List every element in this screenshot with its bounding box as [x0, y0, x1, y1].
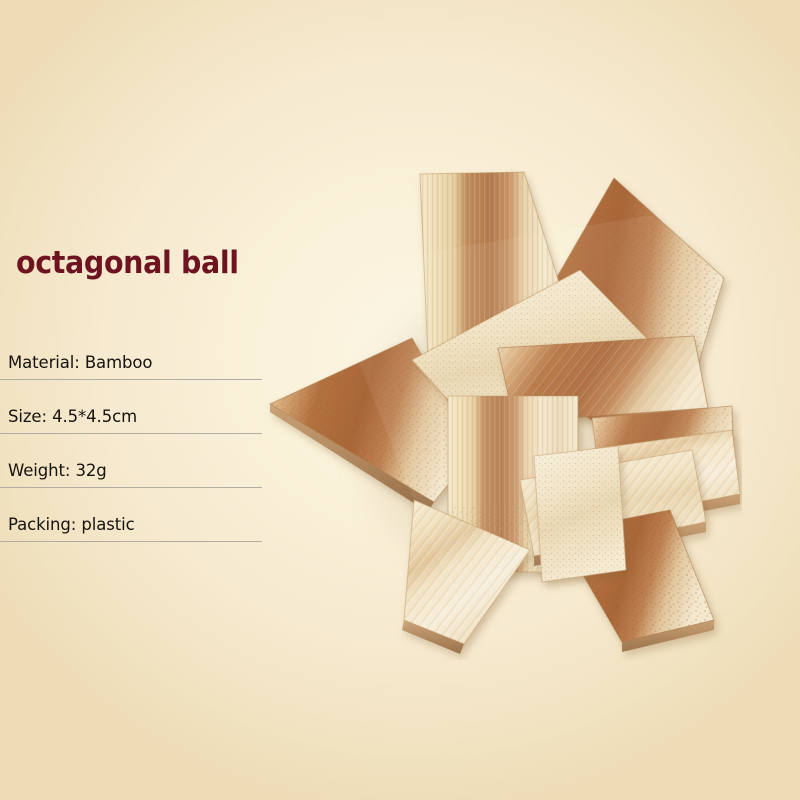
spec-row-size: Size: 4.5*4.5cm	[0, 380, 262, 434]
spec-row-weight: Weight: 32g	[0, 434, 262, 488]
spec-row-material: Material: Bamboo	[0, 326, 262, 380]
product-image-canvas: octagonal ball Material: Bamboo Size: 4.…	[0, 0, 800, 800]
spec-text-weight: Weight: 32g	[8, 461, 107, 480]
bamboo-star-puzzle-illustration	[262, 150, 742, 660]
spec-text-size: Size: 4.5*4.5cm	[8, 407, 137, 426]
spec-text-packing: Packing: plastic	[8, 515, 135, 534]
spec-list: Material: Bamboo Size: 4.5*4.5cm Weight:…	[0, 326, 262, 542]
product-photo	[262, 150, 742, 660]
spec-row-packing: Packing: plastic	[0, 488, 262, 542]
page-title: octagonal ball	[16, 248, 239, 279]
spec-text-material: Material: Bamboo	[8, 353, 152, 372]
